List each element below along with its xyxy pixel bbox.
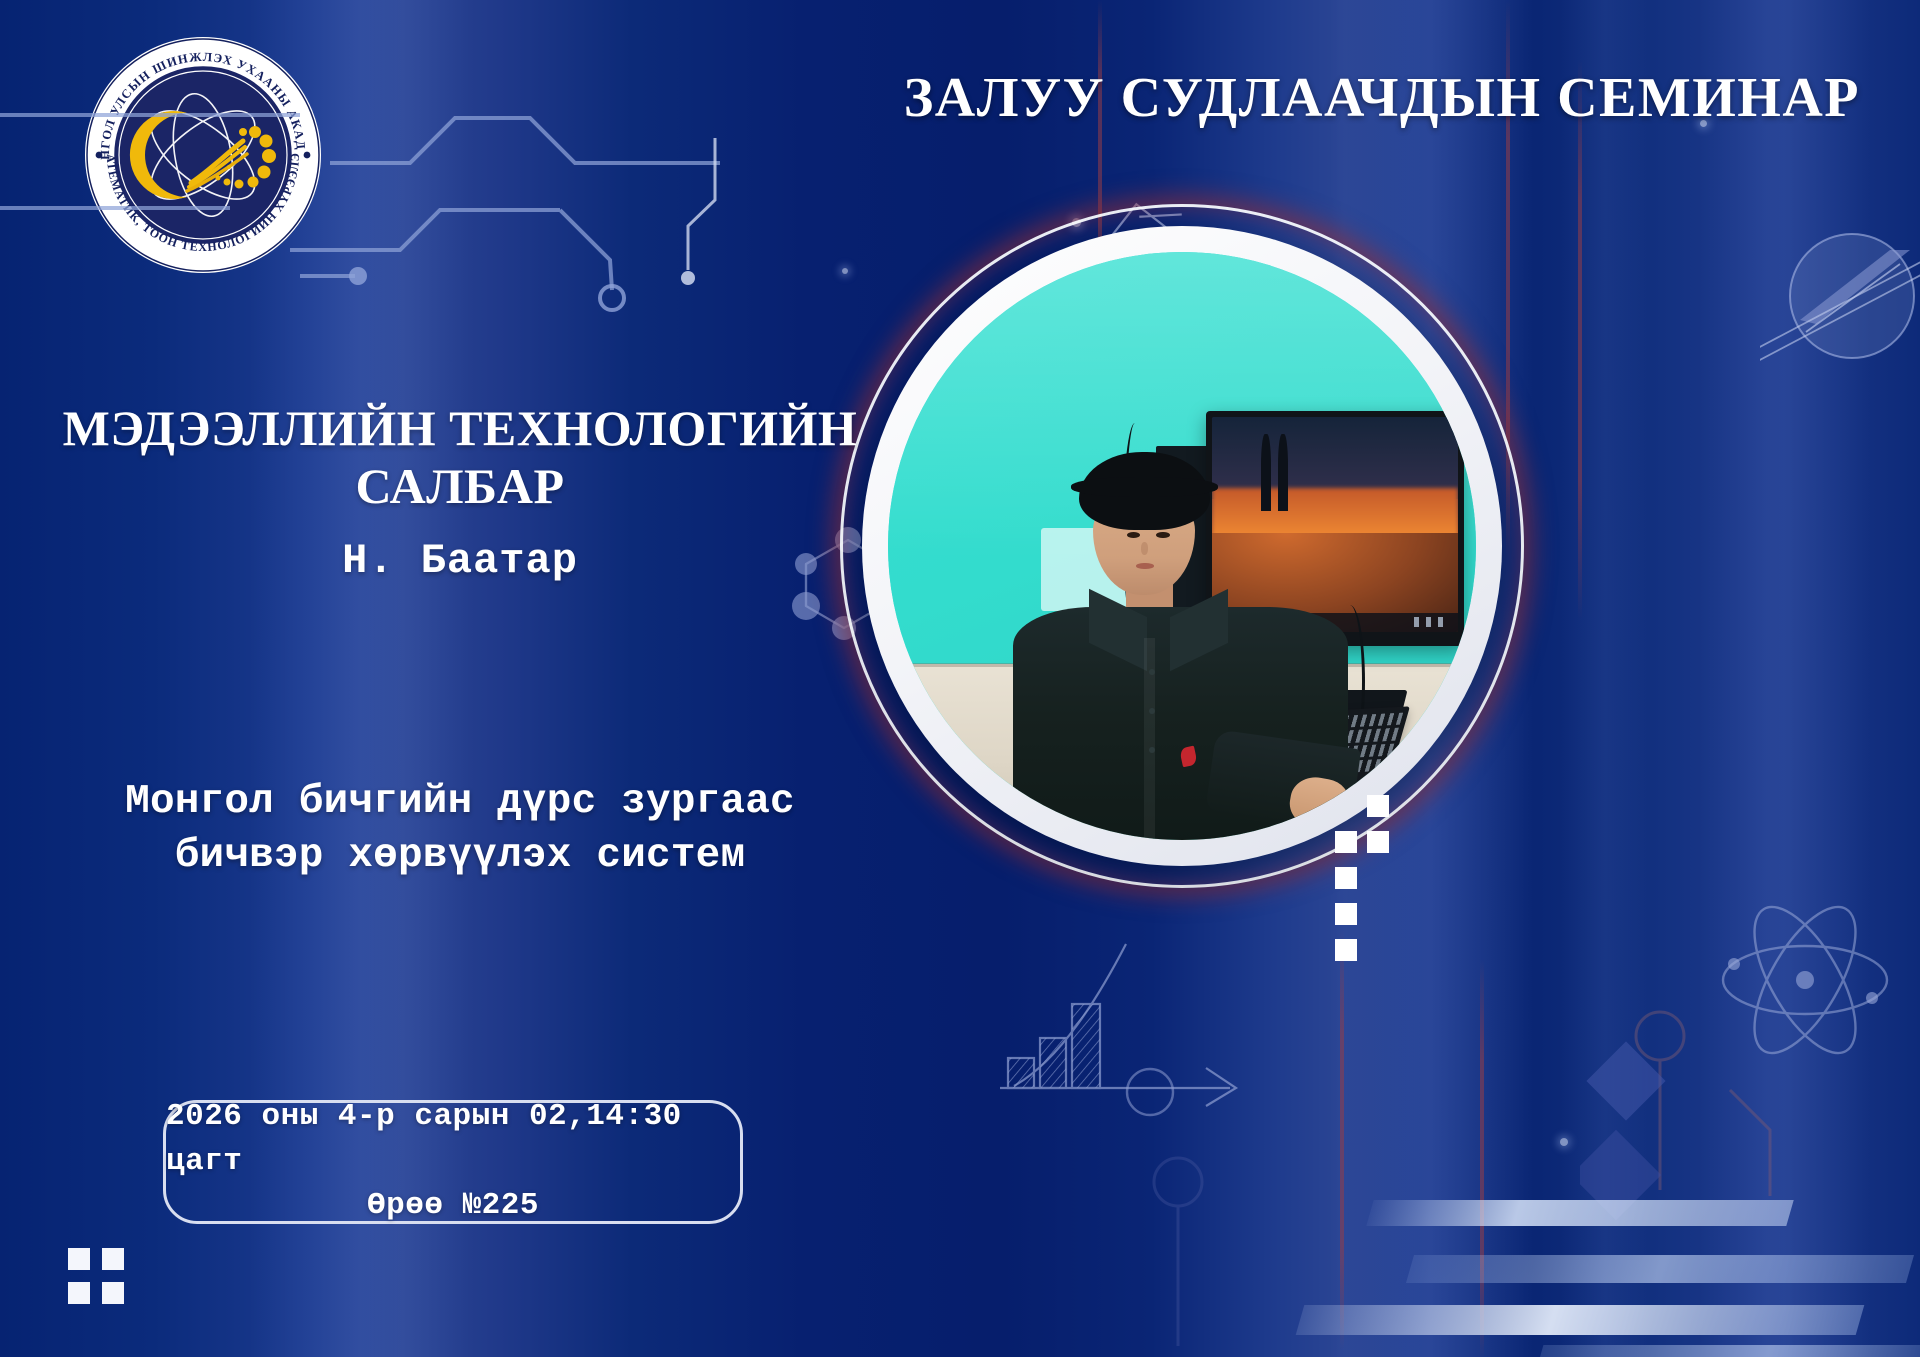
department-name-line2: САЛБАР xyxy=(40,458,880,516)
seminar-poster: МОНГОЛ УЛСЫН ШИНЖЛЭХ УХААНЫ АКАДЕМИ МАТЕ… xyxy=(0,0,1920,1357)
square-dot-grid-bottom-left xyxy=(68,1248,124,1304)
topic-line1: Монгол бичгийн дүрс зургаас xyxy=(40,775,880,829)
atom-icon xyxy=(1700,880,1910,1080)
presenter-photo xyxy=(862,226,1502,866)
background-glow-band xyxy=(1700,0,1870,1357)
planet-rings-icon xyxy=(1760,200,1920,400)
department-block: МЭДЭЭЛЛИЙН ТЕХНОЛОГИЙН САЛБАР Н. Баатар xyxy=(40,400,880,585)
schedule-badge: 2026 оны 4-р сарын 02,14:30 цагт Өрөө №2… xyxy=(163,1100,743,1224)
diagonal-light-bar xyxy=(1366,1200,1793,1226)
schedule-room: Өрөө №225 xyxy=(367,1184,539,1229)
background-glow-band xyxy=(1560,0,1650,1357)
diagonal-light-bar xyxy=(1537,1345,1920,1357)
photo-image xyxy=(888,252,1476,840)
department-name: МЭДЭЭЛЛИЙН ТЕХНОЛОГИЙН САЛБАР xyxy=(40,400,880,515)
vertical-rule xyxy=(1340,930,1344,1350)
department-name-line1: МЭДЭЭЛЛИЙН ТЕХНОЛОГИЙН xyxy=(40,400,880,458)
vertical-rule xyxy=(1578,60,1582,620)
vertical-rule xyxy=(1480,960,1484,1357)
star-dot xyxy=(842,268,848,274)
circuit-node-bottom-icon xyxy=(1600,1000,1800,1200)
institute-logo: МОНГОЛ УЛСЫН ШИНЖЛЭХ УХААНЫ АКАДЕМИ МАТЕ… xyxy=(83,35,323,275)
bar-chart-sketch-icon xyxy=(1000,940,1250,1140)
page-title: ЗАЛУУ СУДЛААЧДЫН СЕМИНАР xyxy=(904,66,1860,130)
presenter-name: Н. Баатар xyxy=(40,537,880,585)
circuit-node-decoration xyxy=(660,130,780,310)
diagonal-light-bar xyxy=(1406,1255,1914,1283)
diagonal-light-bar xyxy=(1296,1305,1865,1335)
schedule-datetime: 2026 оны 4-р сарын 02,14:30 цагт xyxy=(166,1095,740,1185)
star-dot xyxy=(1560,1138,1568,1146)
topic-line2: бичвэр хөрвүүлэх систем xyxy=(40,829,880,883)
topic-title: Монгол бичгийн дүрс зургаас бичвэр хөрвү… xyxy=(40,775,880,883)
circuit-node-bottom-left-icon xyxy=(1130,1150,1290,1350)
